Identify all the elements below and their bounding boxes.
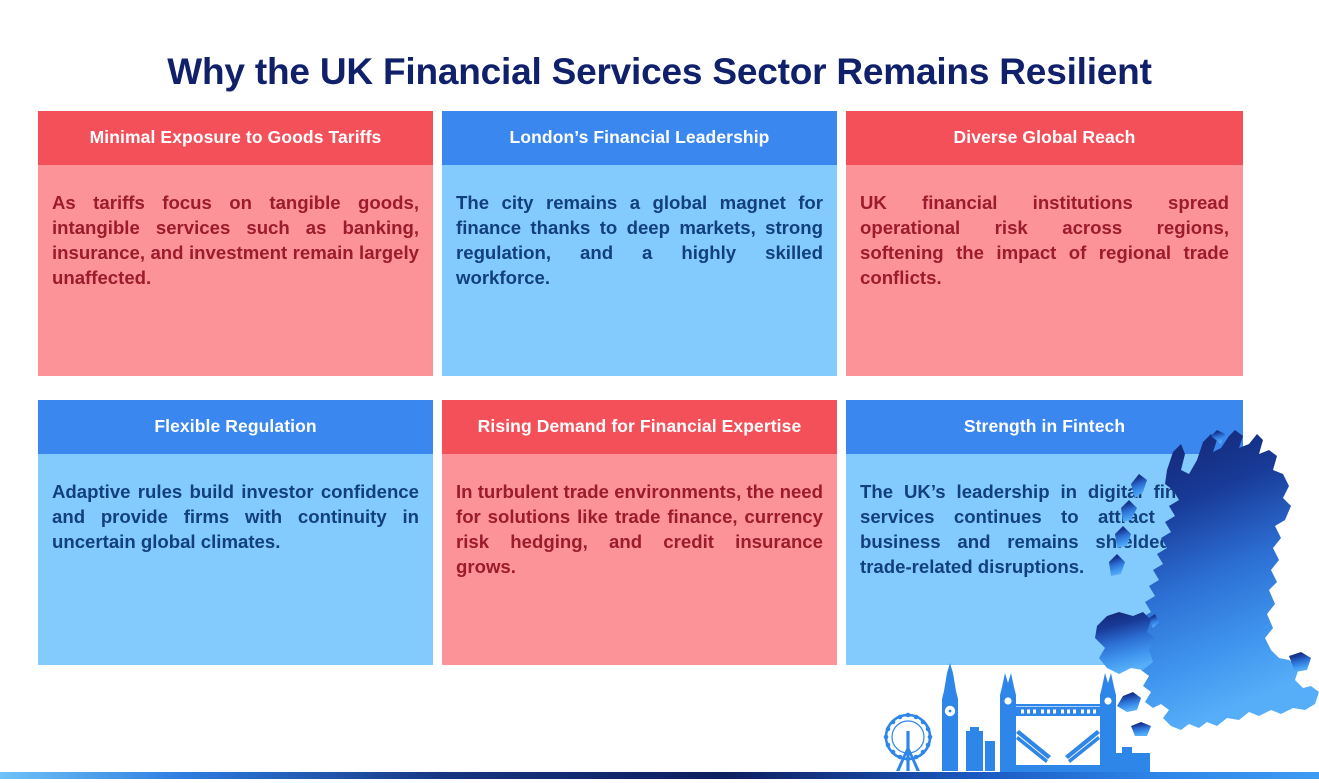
tower-bridge-icon <box>1000 673 1150 772</box>
card-body-text: The UK’s leadership in digital financial… <box>846 454 1243 665</box>
card-flexible-regulation[interactable]: Flexible Regulation Adaptive rules build… <box>38 400 433 665</box>
card-body-text: In turbulent trade environments, the nee… <box>442 454 837 665</box>
card-body-text: Adaptive rules build investor confidence… <box>38 454 433 665</box>
card-title: London’s Financial Leadership <box>442 111 837 165</box>
gradient-footer-bar <box>0 772 1319 779</box>
card-title: Rising Demand for Financial Expertise <box>442 400 837 454</box>
card-title: Minimal Exposure to Goods Tariffs <box>38 111 433 165</box>
card-grid: Minimal Exposure to Goods Tariffs As tar… <box>38 111 1243 665</box>
office-building-icon <box>966 727 995 771</box>
card-rising-demand-for-financial-expertise[interactable]: Rising Demand for Financial Expertise In… <box>442 400 837 665</box>
card-title: Flexible Regulation <box>38 400 433 454</box>
infographic-page: Why the UK Financial Services Sector Rem… <box>0 0 1319 783</box>
card-diverse-global-reach[interactable]: Diverse Global Reach UK financial instit… <box>846 111 1243 376</box>
card-body-text: As tariffs focus on tangible goods, inta… <box>38 165 433 376</box>
london-eye-icon <box>884 713 933 771</box>
big-ben-icon <box>940 663 960 771</box>
card-strength-in-fintech[interactable]: Strength in Fintech The UK’s leadership … <box>846 400 1243 665</box>
card-title: Diverse Global Reach <box>846 111 1243 165</box>
page-title: Why the UK Financial Services Sector Rem… <box>0 51 1319 93</box>
london-skyline-silhouette <box>866 661 1166 774</box>
card-title: Strength in Fintech <box>846 400 1243 454</box>
card-minimal-exposure-to-goods-tariffs[interactable]: Minimal Exposure to Goods Tariffs As tar… <box>38 111 433 376</box>
card-londons-financial-leadership[interactable]: London’s Financial Leadership The city r… <box>442 111 837 376</box>
card-body-text: UK financial institutions spread operati… <box>846 165 1243 376</box>
card-body-text: The city remains a global magnet for fin… <box>442 165 837 376</box>
